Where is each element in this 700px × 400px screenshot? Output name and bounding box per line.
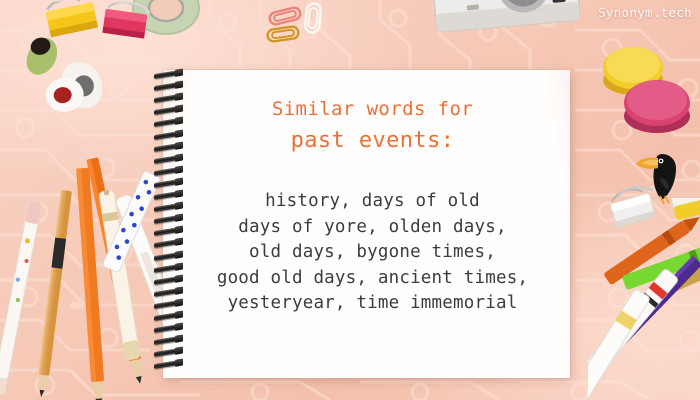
crayons [588,198,700,400]
synonym-line: old days, bygone times, [217,240,528,266]
synonym-line: good old days, ancient times, [217,266,528,292]
paper-clip-white [302,1,323,35]
note-content: Similar words for past events: history, … [175,70,570,378]
synonym-line: days of yore, olden days, [217,215,528,241]
screenshot-scene: Similar words for past events: history, … [0,0,700,400]
synonym-line: yesteryear, time immemorial [217,291,528,317]
note-heading-line2: past events: [291,128,455,153]
synonym-list: history, days of olddays of yore, olden … [217,189,528,317]
site-watermark: Synonym.tech [598,5,692,20]
binder-clip-pink [97,0,156,48]
note-heading-line1: Similar words for [272,98,473,120]
synonym-line: history, days of old [217,189,528,215]
macaron-pink [622,78,692,136]
egg-eraser [39,57,107,119]
